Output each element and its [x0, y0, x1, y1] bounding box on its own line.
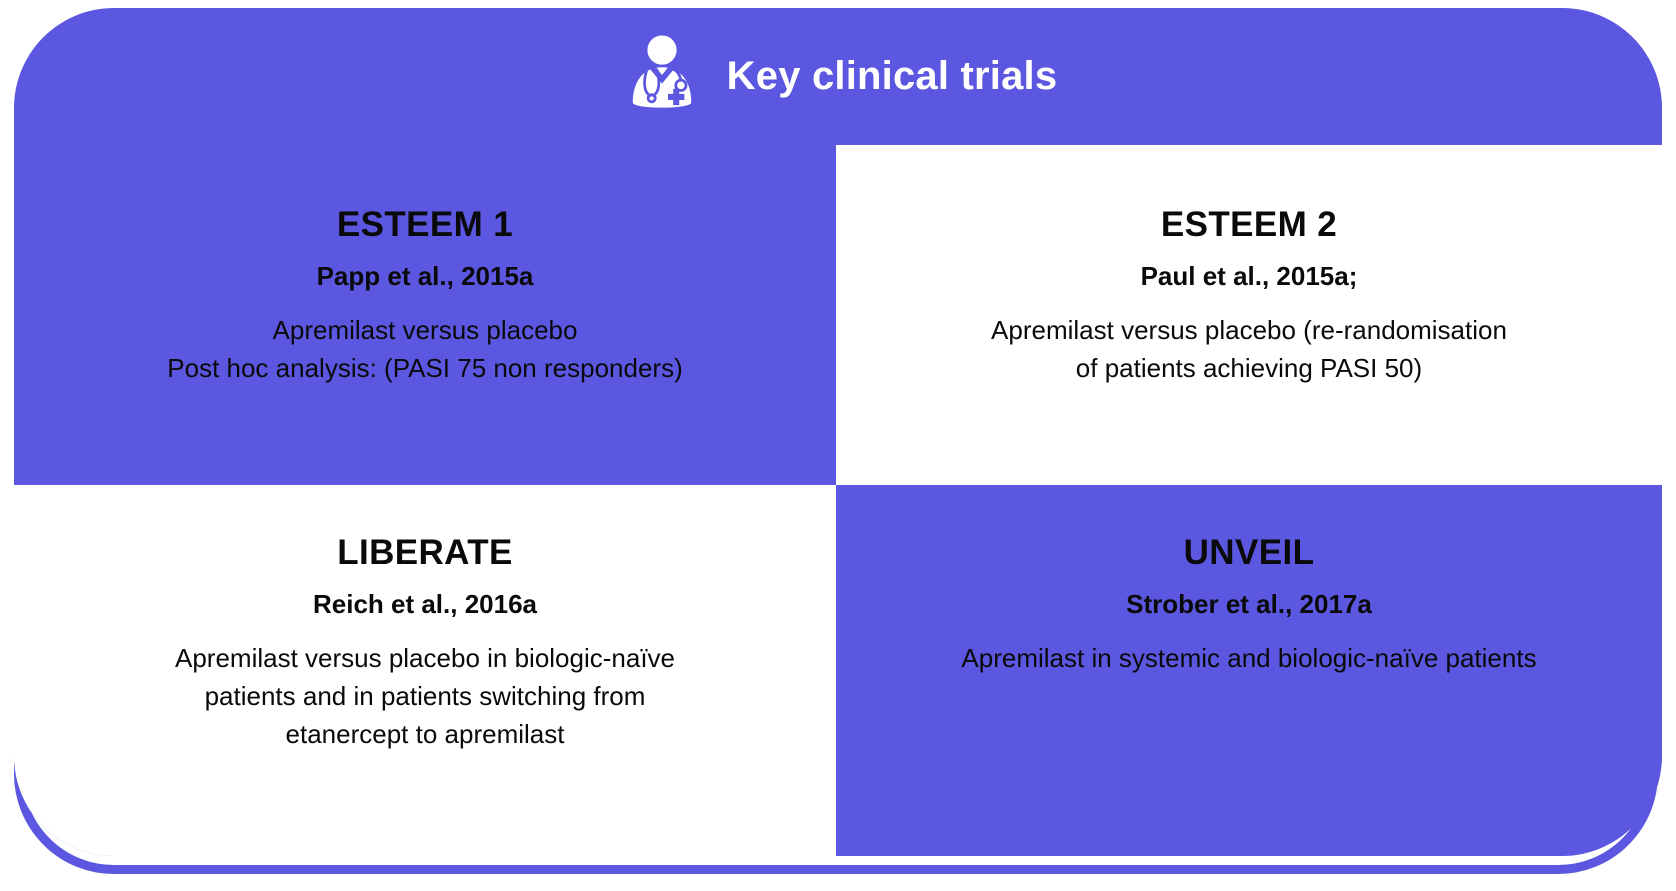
infographic-root: Key clinical trials ESTEEM 1 Papp et al.…: [0, 0, 1676, 891]
trial-name: ESTEEM 2: [1161, 205, 1337, 245]
trial-name: ESTEEM 1: [337, 205, 513, 245]
trial-description: Apremilast versus placebo Post hoc analy…: [167, 312, 682, 387]
trial-name: LIBERATE: [337, 533, 513, 573]
trial-description: Apremilast in systemic and biologic-naïv…: [961, 640, 1536, 678]
trial-reference: Paul et al., 2015a;: [1141, 261, 1358, 292]
trial-reference: Reich et al., 2016a: [313, 589, 537, 620]
trial-card-esteem-2[interactable]: ESTEEM 2 Paul et al., 2015a; Apremilast …: [836, 145, 1662, 485]
trial-description: Apremilast versus placebo (re-randomisat…: [991, 312, 1507, 387]
trial-description: Apremilast versus placebo in biologic-na…: [175, 640, 675, 753]
trial-card-liberate[interactable]: LIBERATE Reich et al., 2016a Apremilast …: [14, 485, 836, 856]
panel-header: Key clinical trials: [14, 8, 1662, 145]
trial-name: UNVEIL: [1184, 533, 1315, 573]
doctor-stethoscope-icon: [619, 32, 705, 118]
trial-reference: Papp et al., 2015a: [317, 261, 534, 292]
panel-title: Key clinical trials: [727, 54, 1058, 99]
trial-card-unveil[interactable]: UNVEIL Strober et al., 2017a Apremilast …: [836, 485, 1662, 856]
trial-reference: Strober et al., 2017a: [1126, 589, 1372, 620]
trial-card-esteem-1[interactable]: ESTEEM 1 Papp et al., 2015a Apremilast v…: [14, 145, 836, 485]
key-clinical-trials-panel: Key clinical trials ESTEEM 1 Papp et al.…: [14, 8, 1662, 856]
